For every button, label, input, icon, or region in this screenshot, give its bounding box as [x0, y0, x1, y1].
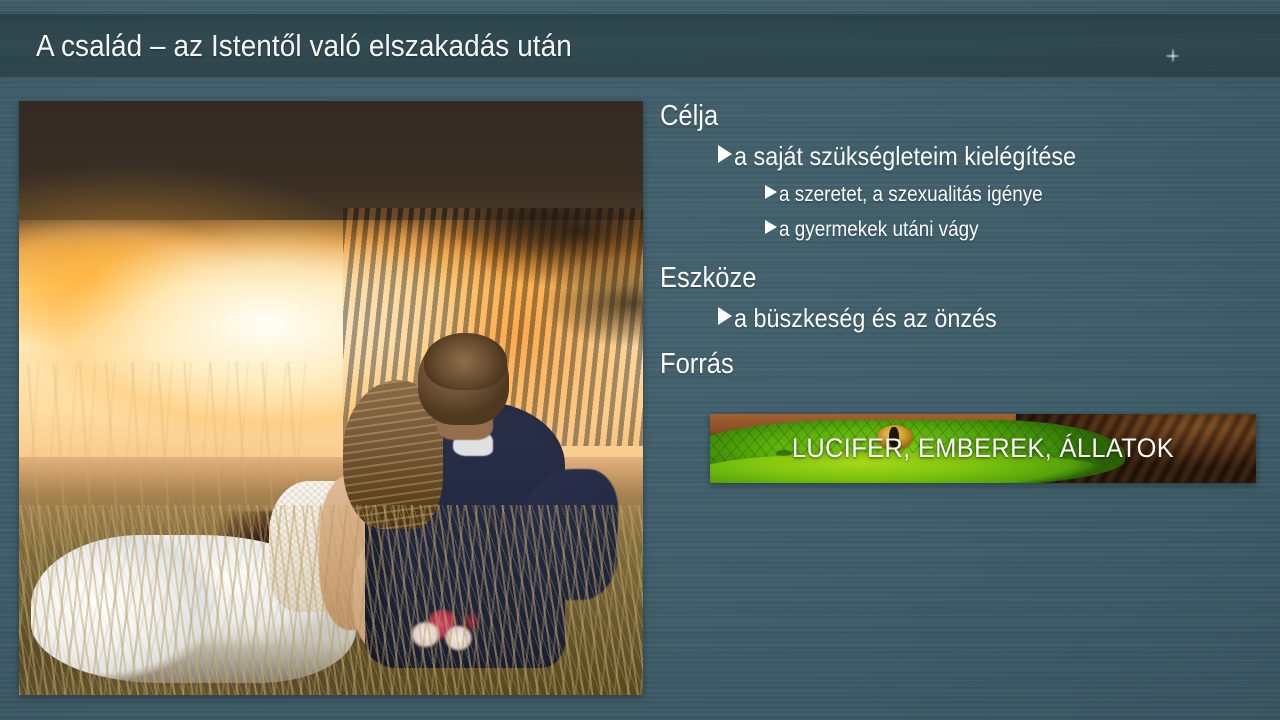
- bullet-label: a saját szükségleteim kielégítése: [734, 136, 1076, 177]
- triangle-right-icon: [765, 185, 777, 199]
- groom-head: [418, 333, 508, 425]
- heading-forras: Forrás: [660, 344, 1197, 384]
- heading-celja: Célja: [660, 96, 1197, 136]
- triangle-right-icon: [718, 145, 732, 163]
- banner-caption: LUCIFER, EMBEREK, ÁLLATOK: [726, 414, 1239, 483]
- presentation-slide: A család – az Istentől való elszakadás u…: [0, 0, 1280, 720]
- bullet-level1-buszkeseg-onzes: a büszkeség és az önzés: [718, 298, 1270, 339]
- triangle-right-icon: [718, 307, 732, 325]
- page-title: A család – az Istentől való elszakadás u…: [36, 20, 1071, 72]
- sparkle-icon: [1166, 49, 1179, 62]
- bullet-level2-gyermekek-vagy: a gyermekek utáni vágy: [765, 212, 1270, 247]
- bullet-level2-szeretet-szexualitas: a szeretet, a szexualitás igénye: [765, 177, 1270, 212]
- bullet-label: a szeretet, a szexualitás igénye: [779, 177, 1043, 212]
- content-column: Célja a saját szükségleteim kielégítése …: [660, 96, 1270, 384]
- snake-banner: LUCIFER, EMBEREK, ÁLLATOK: [710, 414, 1256, 483]
- bullet-label: a büszkeség és az önzés: [734, 298, 997, 339]
- wedding-couple-photo: [19, 101, 643, 695]
- foreground-dry-grass: [19, 505, 643, 695]
- bullet-label: a gyermekek utáni vágy: [779, 212, 979, 247]
- bullet-level1-sajat-szuksegletek: a saját szükségleteim kielégítése: [718, 136, 1270, 177]
- heading-eszkoze: Eszköze: [660, 258, 1197, 298]
- triangle-right-icon: [765, 220, 777, 234]
- photo-layers: [19, 101, 643, 695]
